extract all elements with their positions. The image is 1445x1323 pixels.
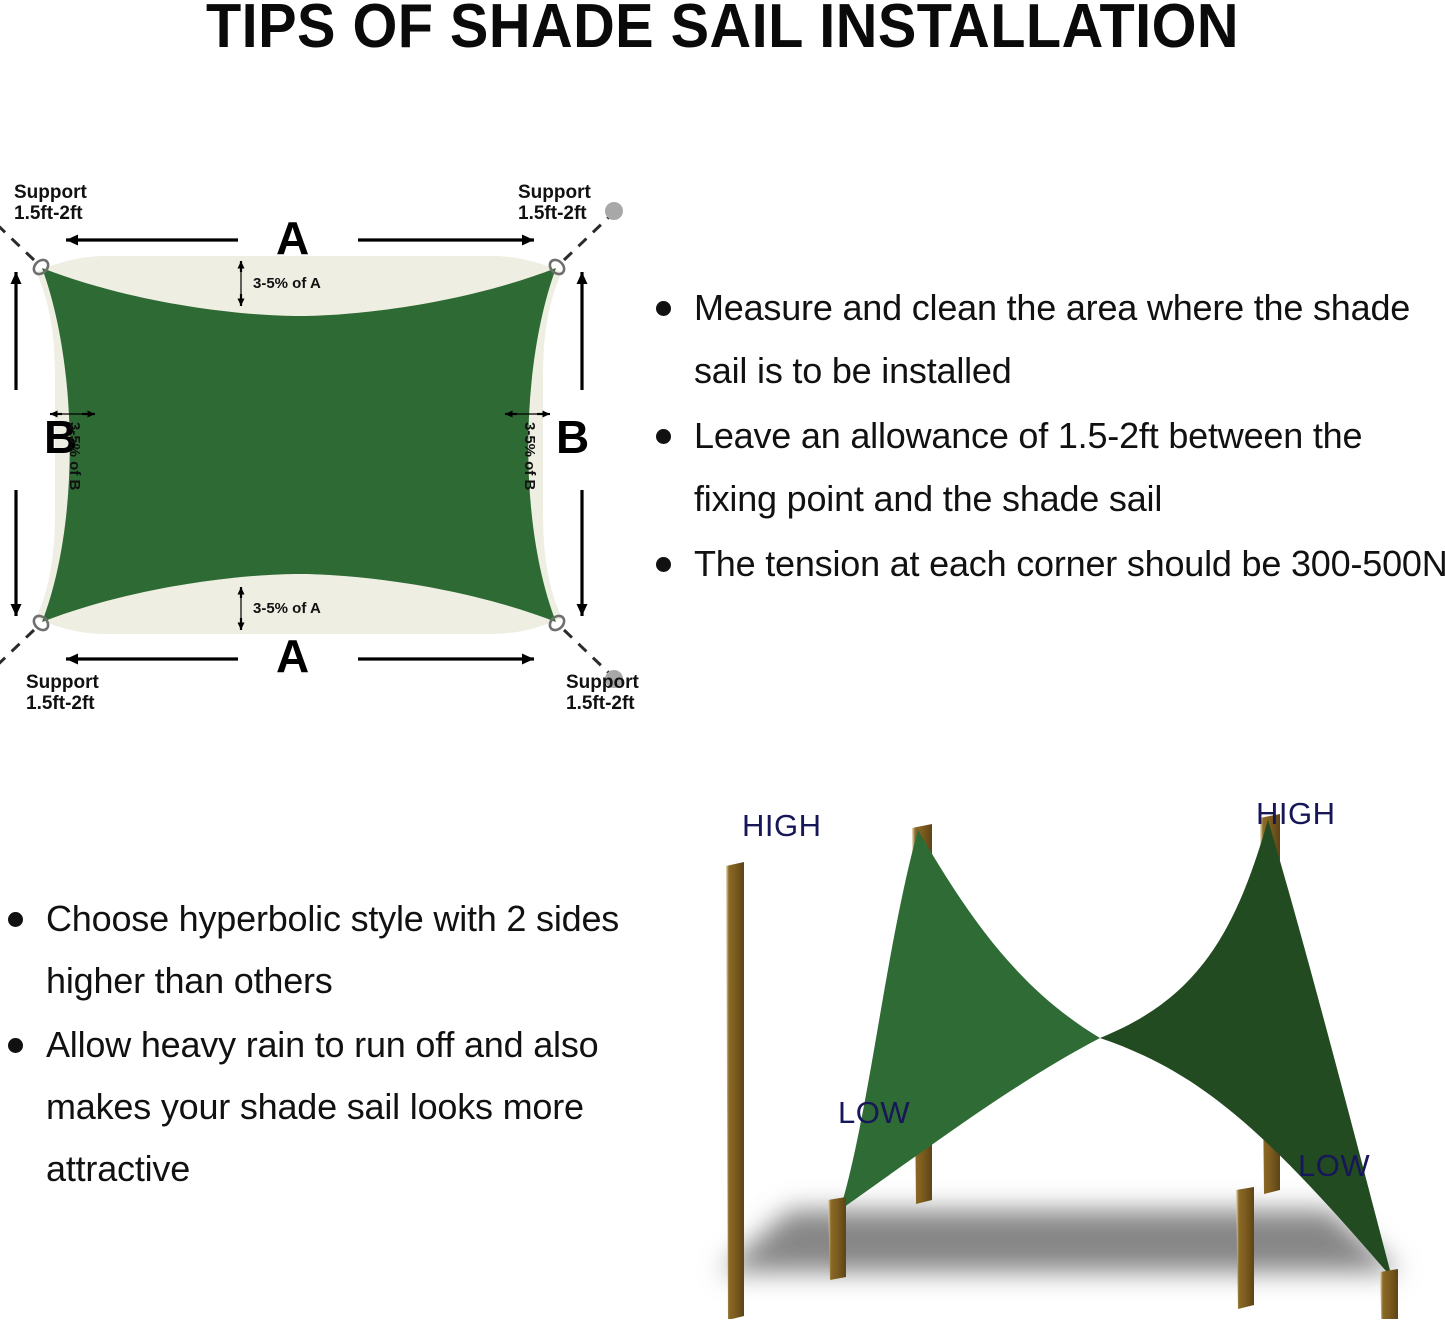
support-label-line1: Support: [14, 182, 87, 203]
post-low-right: [1380, 1269, 1398, 1319]
dimension-label-a-top: A: [276, 215, 309, 261]
post-low-left: [828, 1197, 846, 1280]
hyperbolic-sail-illustration: HIGH HIGH LOW LOW: [680, 780, 1445, 1319]
support-label-bottom-right: Support 1.5ft-2ft: [566, 672, 639, 715]
post-leg-right: [1236, 1187, 1254, 1309]
list-item: Measure and clean the area where the sha…: [648, 276, 1445, 402]
label-low-right: LOW: [1298, 1148, 1370, 1184]
list-item-text: Choose hyperbolic style with 2 sides hig…: [46, 898, 619, 1001]
dimension-label-b-right: B: [556, 414, 589, 460]
installation-tips-list-bottom: Choose hyperbolic style with 2 sides hig…: [0, 888, 630, 1202]
dimension-label-a-bottom: A: [276, 633, 309, 679]
curve-note-right: 3-5% of B: [522, 422, 537, 490]
sail-fabric: [42, 268, 556, 622]
support-label-line2: 1.5ft-2ft: [14, 203, 87, 224]
rectangular-sail-diagram: A A B B 3-5% of A 3-5% of A 3-5% of B 3-…: [0, 160, 660, 730]
bullet-dot-icon: [656, 429, 671, 444]
list-item: Choose hyperbolic style with 2 sides hig…: [0, 888, 630, 1012]
installation-tips-list-top: Measure and clean the area where the sha…: [648, 276, 1445, 597]
support-label-line1: Support: [26, 672, 99, 693]
curve-note-left: 3-5% of B: [67, 422, 82, 490]
support-label-line2: 1.5ft-2ft: [518, 203, 591, 224]
label-high-right: HIGH: [1256, 796, 1336, 832]
support-dot-top-right: [605, 202, 623, 220]
list-item: Leave an allowance of 1.5-2ft between th…: [648, 404, 1445, 530]
label-low-left: LOW: [838, 1095, 910, 1131]
list-item: Allow heavy rain to run off and also mak…: [0, 1014, 630, 1200]
infographic-page: TIPS OF SHADE SAIL INSTALLATION: [0, 0, 1445, 1319]
curve-note-bottom: 3-5% of A: [253, 601, 321, 616]
list-item-text: Allow heavy rain to run off and also mak…: [46, 1024, 598, 1189]
support-label-line1: Support: [518, 182, 591, 203]
support-label-line2: 1.5ft-2ft: [26, 693, 99, 714]
support-label-bottom-left: Support 1.5ft-2ft: [26, 672, 99, 715]
hyperbolic-sail-svg: [680, 780, 1445, 1319]
page-title: TIPS OF SHADE SAIL INSTALLATION: [51, 0, 1395, 59]
label-high-left: HIGH: [742, 808, 822, 844]
bullet-dot-icon: [656, 557, 671, 572]
support-label-line1: Support: [566, 672, 639, 693]
post-leg-left: [726, 862, 744, 1319]
bullet-dot-icon: [8, 912, 23, 927]
ground-shadow: [720, 1210, 1400, 1272]
support-label-top-left: Support 1.5ft-2ft: [14, 182, 87, 225]
bullet-dot-icon: [656, 301, 671, 316]
support-label-line2: 1.5ft-2ft: [566, 693, 639, 714]
list-item: The tension at each corner should be 300…: [648, 532, 1445, 595]
list-item-text: The tension at each corner should be 300…: [694, 543, 1445, 584]
bullet-dot-icon: [8, 1038, 23, 1053]
list-item-text: Measure and clean the area where the sha…: [694, 287, 1410, 391]
support-label-top-right: Support 1.5ft-2ft: [518, 182, 591, 225]
list-item-text: Leave an allowance of 1.5-2ft between th…: [694, 415, 1362, 519]
curve-note-top: 3-5% of A: [253, 276, 321, 291]
